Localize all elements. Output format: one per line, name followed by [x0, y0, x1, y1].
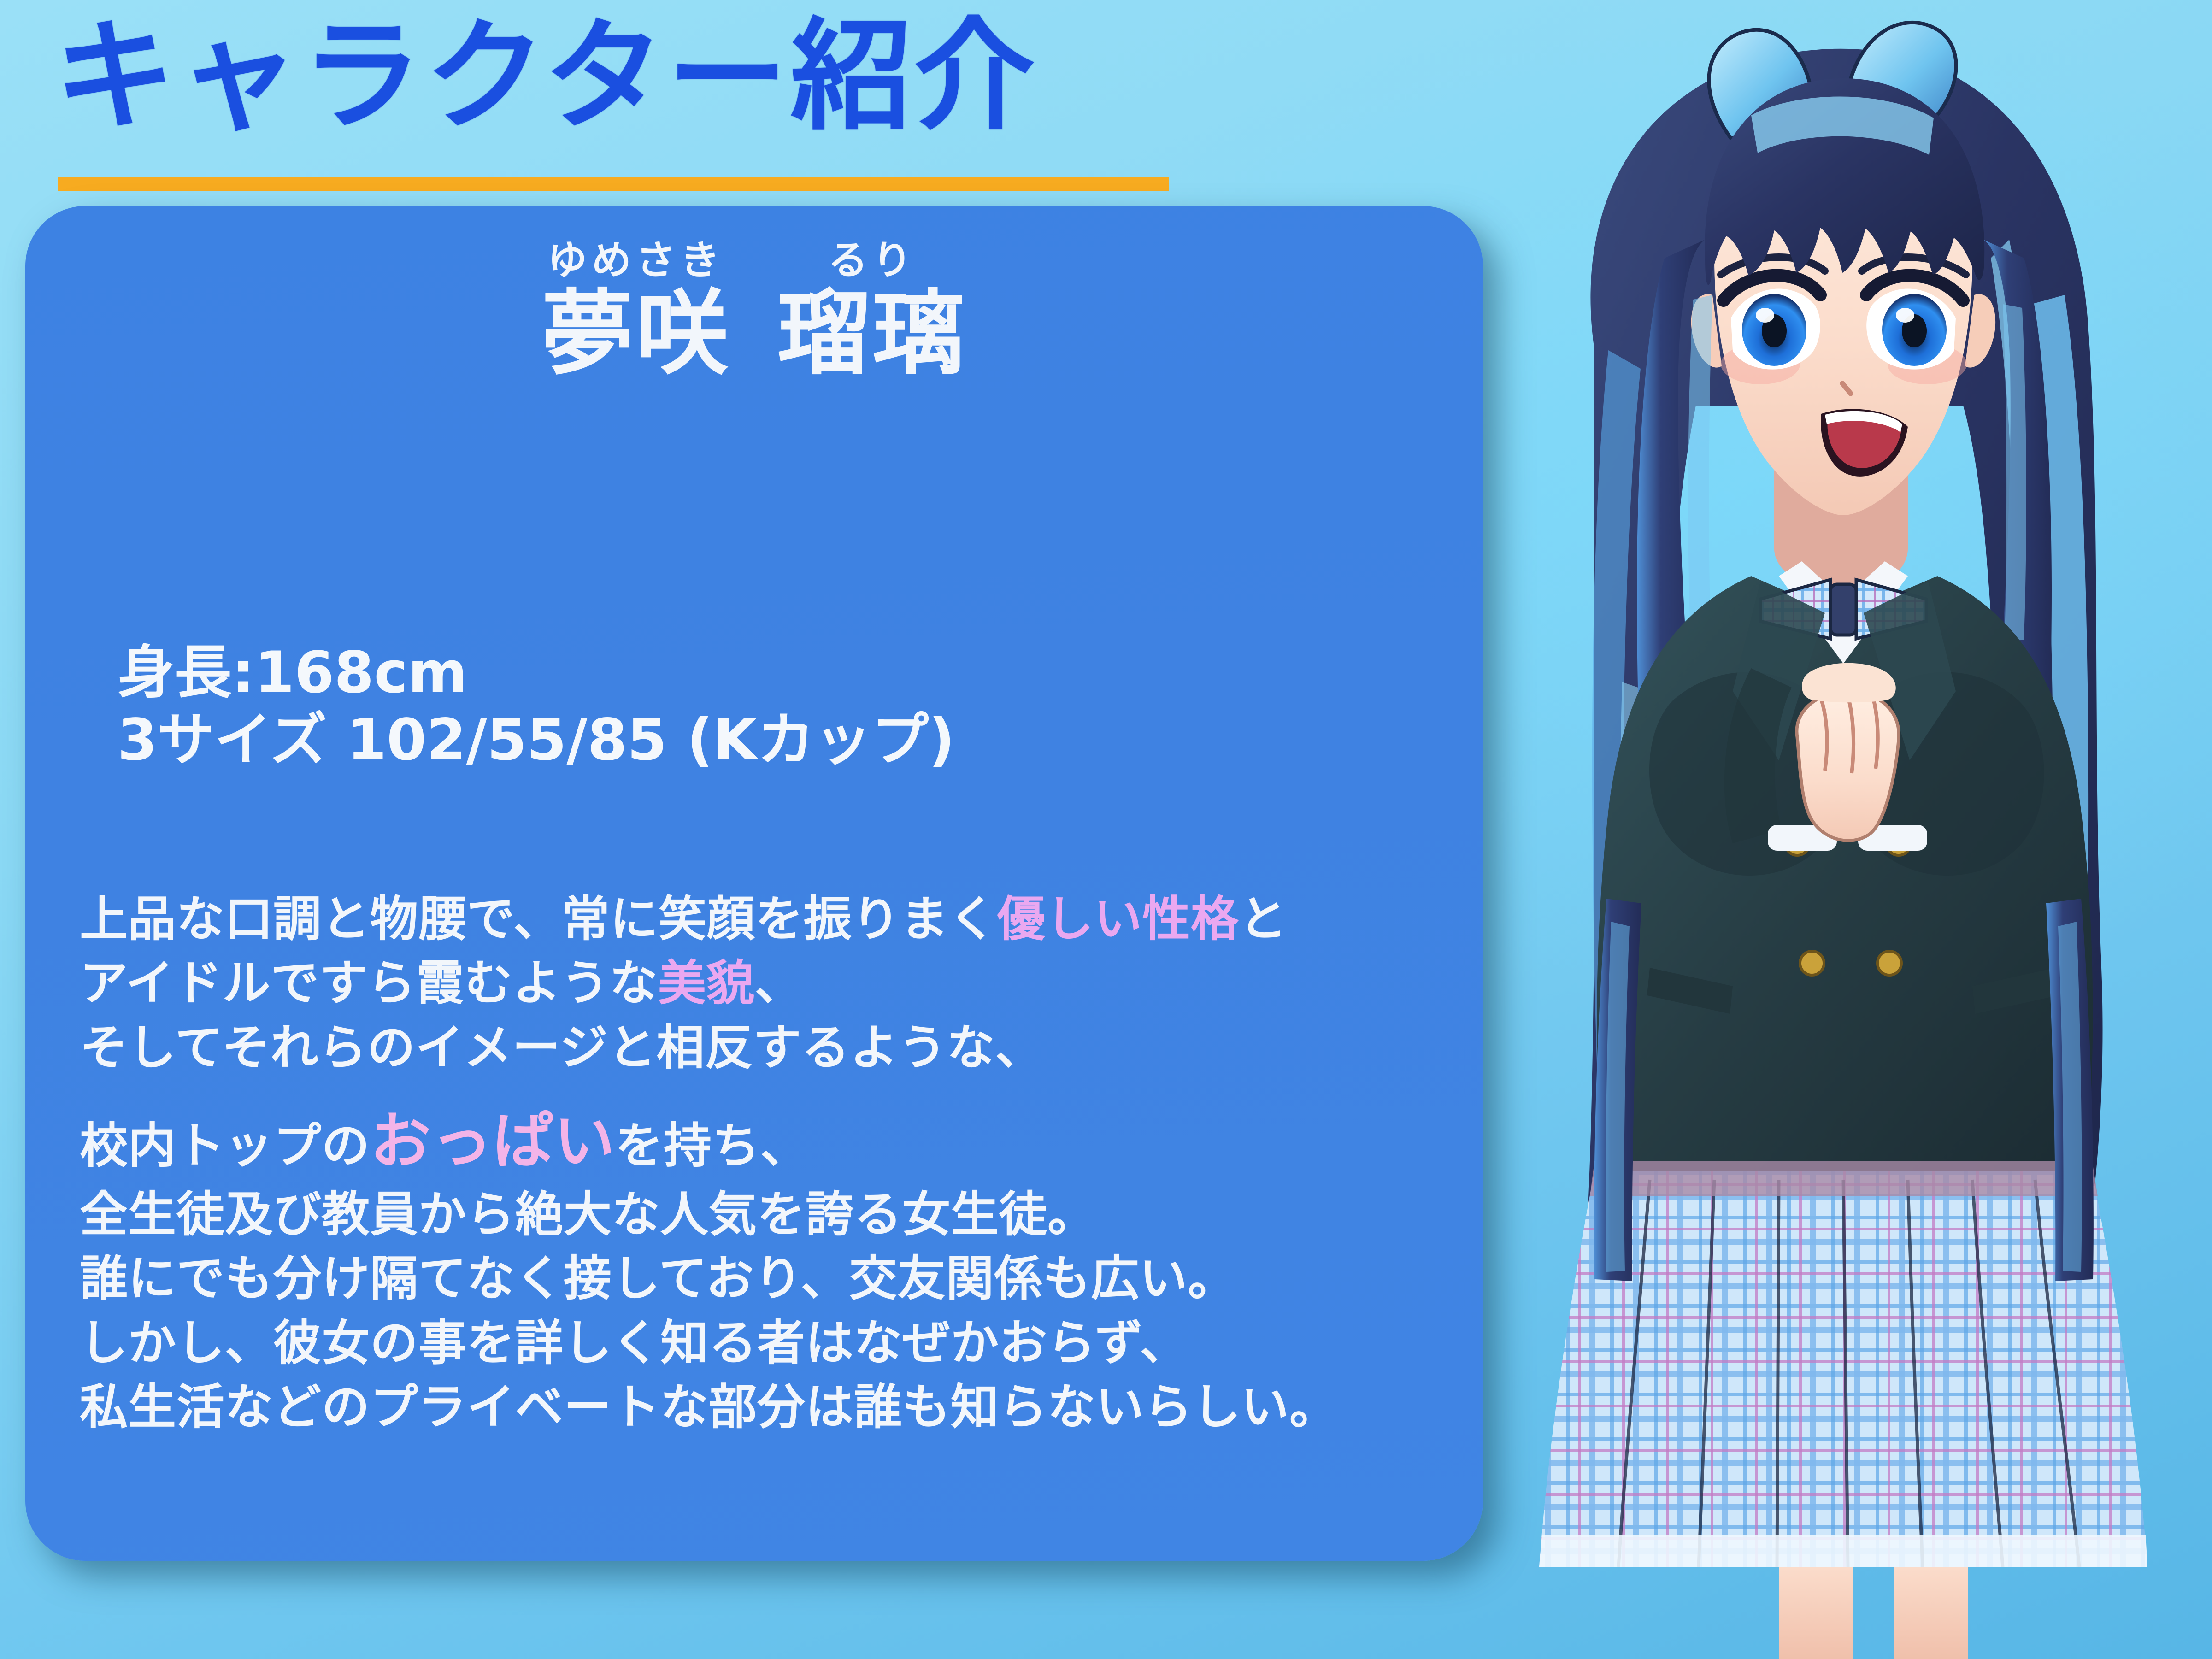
character-stats: 身長:168cm 3サイズ 102/55/85 (Kカップ) [118, 639, 955, 774]
furigana-family: ゆめさき [541, 241, 731, 280]
description-line: アイドルですら霞むような美貌、 [80, 951, 1455, 1015]
description-highlight: 美貌 [658, 955, 755, 1011]
character-info-panel: ゆめさき 夢咲 るり 瑠璃 身長:168cm 3サイズ 102/55/85 (K… [25, 206, 1483, 1561]
description-text: アイドルですら霞むような [80, 955, 658, 1011]
description-line: 誰にでも分け隔てなく接しており、交友関係も広い。 [80, 1247, 1455, 1311]
description-text: 、 [755, 955, 803, 1011]
description-text: しかし、彼女の事を詳しく知る者はなぜかおらず、 [80, 1315, 1188, 1371]
page-title: キャラクター紹介 [54, 13, 1253, 197]
description-line: 上品な口調と物腰で、常に笑顔を振りまく優しい性格と [80, 887, 1455, 951]
page-title-text: キャラクター紹介 [54, 13, 1253, 140]
stat-height: 身長:168cm [118, 639, 955, 706]
description-line: そしてそれらのイメージと相反するような、 [80, 1016, 1455, 1080]
description-line: 全生徒及び教員から絶大な人気を誇る女生徒。 [80, 1182, 1455, 1247]
description-highlight: 優しい性格 [997, 891, 1239, 947]
title-underline-bar [58, 177, 1169, 191]
description-text: 全生徒及び教員から絶大な人気を誇る女生徒。 [80, 1186, 1096, 1242]
description-text: と [1239, 891, 1288, 947]
furigana-given: るり [777, 241, 967, 280]
name-unit-given: るり 瑠璃 [777, 241, 967, 382]
description-line: 校内トップのおっぱいを持ち、 [80, 1101, 1455, 1182]
character-description: 上品な口調と物腰で、常に笑顔を振りまく優しい性格とアイドルですら霞むような美貌、… [80, 887, 1455, 1439]
description-text: 校内トップの [80, 1118, 370, 1174]
description-line: 私生活などのプライベートな部分は誰も知らないらしい。 [80, 1375, 1455, 1439]
description-text: 上品な口調と物腰で、常に笑顔を振りまく [80, 891, 997, 947]
description-text: 私生活などのプライベートな部分は誰も知らないらしい。 [80, 1379, 1338, 1435]
stat-measurements: 3サイズ 102/55/85 (Kカップ) [118, 706, 955, 774]
description-line: しかし、彼女の事を詳しく知る者はなぜかおらず、 [80, 1311, 1455, 1375]
description-text: 誰にでも分け隔てなく接しており、交友関係も広い。 [80, 1250, 1236, 1306]
description-text: を持ち、 [615, 1118, 809, 1174]
kanji-given: 瑠璃 [777, 286, 967, 382]
character-name-block: ゆめさき 夢咲 るり 瑠璃 [25, 241, 1483, 382]
description-highlight: おっぱい [370, 1106, 615, 1177]
name-unit-family: ゆめさき 夢咲 [541, 241, 731, 382]
kanji-family: 夢咲 [541, 286, 731, 382]
character-intro-card: キャラクター紹介 ゆめさき 夢咲 るり 瑠璃 身長:168cm 3サイズ 102… [0, 0, 2212, 1659]
description-text: そしてそれらのイメージと相反するような、 [80, 1019, 1044, 1076]
